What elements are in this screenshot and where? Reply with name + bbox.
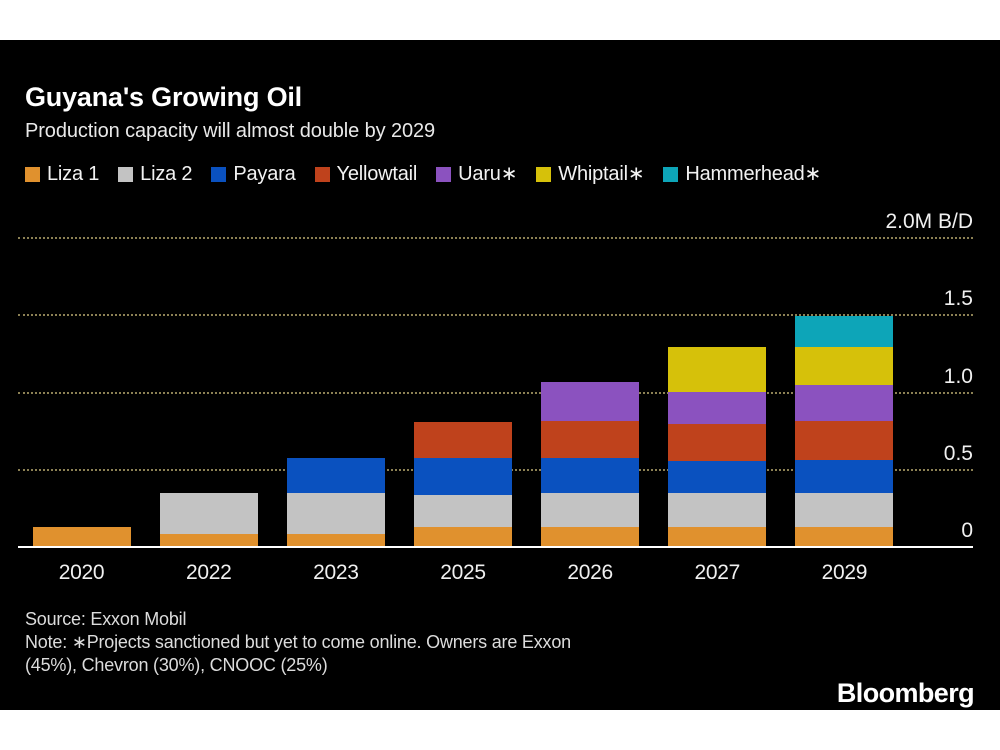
y-axis-tick-label: 0.5 <box>944 443 973 464</box>
bar-segment[interactable] <box>414 458 512 495</box>
bar-segment[interactable] <box>287 534 385 546</box>
stacked-bar[interactable] <box>668 347 766 546</box>
bar-segment[interactable] <box>668 527 766 546</box>
bar-segment[interactable] <box>541 458 639 494</box>
legend-item-label: Liza 2 <box>140 164 192 184</box>
bar-column[interactable] <box>18 237 145 546</box>
stacked-bar[interactable] <box>287 458 385 546</box>
legend-swatch-icon <box>663 167 678 182</box>
bar-column[interactable] <box>527 237 654 546</box>
x-axis-tick-label: 2027 <box>654 552 781 592</box>
bloomberg-logo: Bloomberg <box>837 678 974 709</box>
legend-item-label: Yellowtail <box>337 164 418 184</box>
x-axis-line <box>18 546 973 548</box>
x-axis-tick-label: 2020 <box>18 552 145 592</box>
chart-legend: Liza 1Liza 2PayaraYellowtailUaru∗Whiptai… <box>25 164 821 184</box>
bar-segment[interactable] <box>795 460 893 494</box>
bar-segment[interactable] <box>541 493 639 527</box>
bar-group <box>18 237 908 546</box>
bar-column[interactable] <box>272 237 399 546</box>
legend-item[interactable]: Uaru∗ <box>436 164 517 184</box>
stacked-bar[interactable] <box>160 493 258 546</box>
footer-notes: Source: Exxon Mobil Note: ∗Projects sanc… <box>25 608 785 677</box>
legend-item-label: Uaru∗ <box>458 164 517 184</box>
stacked-bar[interactable] <box>541 382 639 546</box>
legend-item-label: Payara <box>233 164 295 184</box>
x-axis-tick-label: 2023 <box>272 552 399 592</box>
bar-segment[interactable] <box>668 424 766 461</box>
bar-segment[interactable] <box>795 493 893 527</box>
x-axis-ticks: 2020202220232025202620272029 <box>18 552 908 592</box>
source-text: Source: Exxon Mobil <box>25 608 785 631</box>
stacked-bar[interactable] <box>414 422 512 546</box>
legend-item-label: Hammerhead∗ <box>685 164 821 184</box>
bar-segment[interactable] <box>33 527 131 546</box>
bar-segment[interactable] <box>160 534 258 546</box>
legend-item[interactable]: Liza 1 <box>25 164 99 184</box>
bar-segment[interactable] <box>795 316 893 347</box>
chart-subtitle: Production capacity will almost double b… <box>25 120 435 143</box>
chart-title: Guyana's Growing Oil <box>25 82 302 113</box>
y-axis-tick-label: 1.0 <box>944 366 973 387</box>
bar-segment[interactable] <box>795 421 893 460</box>
x-axis-tick-label: 2022 <box>145 552 272 592</box>
bar-column[interactable] <box>781 237 908 546</box>
x-axis-tick-label: 2029 <box>781 552 908 592</box>
bar-segment[interactable] <box>414 422 512 458</box>
note-text-line2: (45%), Chevron (30%), CNOOC (25%) <box>25 654 785 677</box>
legend-item[interactable]: Payara <box>211 164 295 184</box>
legend-item[interactable]: Liza 2 <box>118 164 192 184</box>
bar-segment[interactable] <box>795 527 893 546</box>
bar-segment[interactable] <box>795 347 893 386</box>
stacked-bar[interactable] <box>795 316 893 546</box>
bar-segment[interactable] <box>287 493 385 533</box>
legend-item[interactable]: Hammerhead∗ <box>663 164 821 184</box>
legend-swatch-icon <box>436 167 451 182</box>
bar-segment[interactable] <box>414 527 512 546</box>
bar-column[interactable] <box>399 237 526 546</box>
bar-segment[interactable] <box>541 421 639 458</box>
bar-column[interactable] <box>654 237 781 546</box>
legend-swatch-icon <box>536 167 551 182</box>
legend-swatch-icon <box>315 167 330 182</box>
note-text-line1: Note: ∗Projects sanctioned but yet to co… <box>25 631 785 654</box>
legend-item[interactable]: Yellowtail <box>315 164 418 184</box>
legend-swatch-icon <box>25 167 40 182</box>
chart-card: Guyana's Growing Oil Production capacity… <box>0 40 1000 710</box>
bar-segment[interactable] <box>160 493 258 533</box>
y-axis-tick-label: 0 <box>961 520 973 541</box>
legend-swatch-icon <box>211 167 226 182</box>
bar-segment[interactable] <box>795 385 893 421</box>
bar-column[interactable] <box>145 237 272 546</box>
bar-segment[interactable] <box>541 382 639 421</box>
y-axis-tick-label: 1.5 <box>944 288 973 309</box>
legend-item[interactable]: Whiptail∗ <box>536 164 644 184</box>
stacked-bar[interactable] <box>33 527 131 546</box>
bar-segment[interactable] <box>668 392 766 424</box>
y-axis-tick-label: 2.0M B/D <box>885 211 973 232</box>
bar-segment[interactable] <box>287 458 385 494</box>
screenshot-frame: Guyana's Growing Oil Production capacity… <box>0 0 1000 750</box>
bar-segment[interactable] <box>668 493 766 527</box>
x-axis-tick-label: 2025 <box>399 552 526 592</box>
x-axis-tick-label: 2026 <box>527 552 654 592</box>
bar-segment[interactable] <box>541 527 639 546</box>
bar-segment[interactable] <box>668 347 766 392</box>
legend-item-label: Liza 1 <box>47 164 99 184</box>
legend-item-label: Whiptail∗ <box>558 164 644 184</box>
bar-segment[interactable] <box>414 495 512 527</box>
bar-segment[interactable] <box>668 461 766 493</box>
legend-swatch-icon <box>118 167 133 182</box>
